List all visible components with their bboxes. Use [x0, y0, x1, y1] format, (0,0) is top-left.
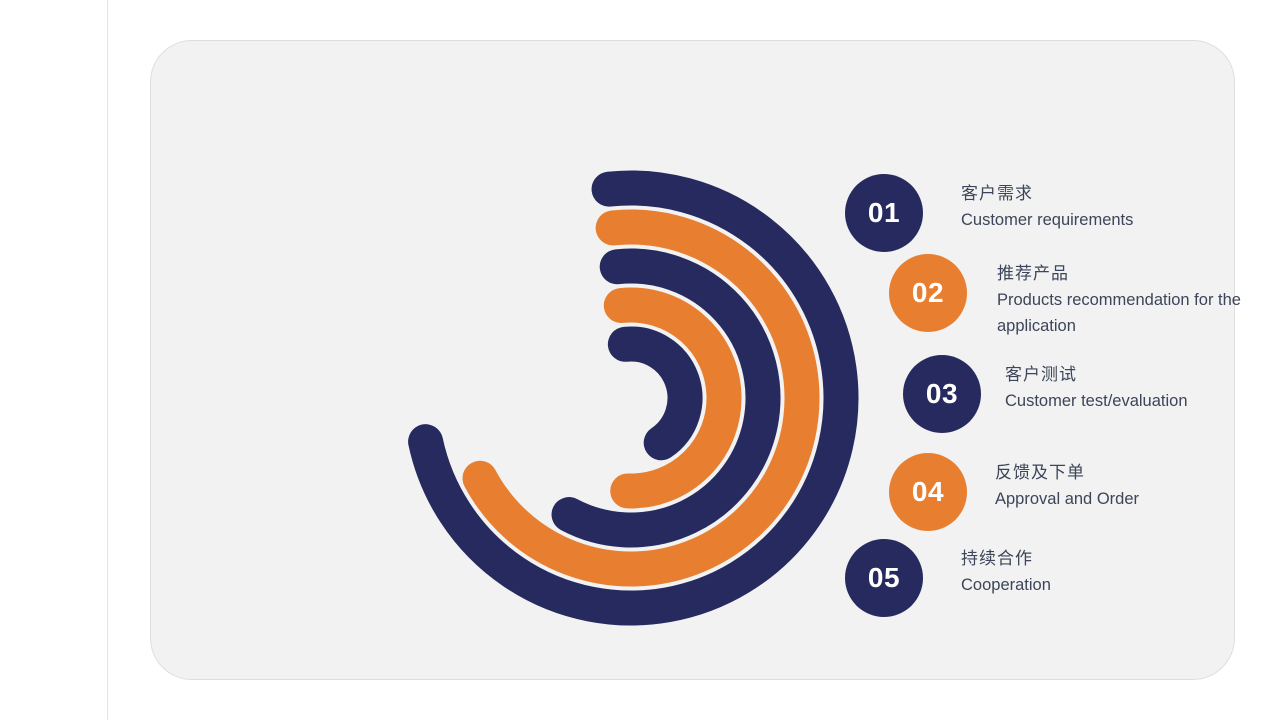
step-label-en-03: Customer test/evaluation — [1005, 388, 1188, 415]
spiral-graphic — [391, 151, 881, 651]
step-labels-04: 反馈及下单 Approval and Order — [995, 453, 1139, 512]
left-margin-rule — [107, 0, 108, 720]
step-label-cn-03: 客户测试 — [1005, 362, 1188, 388]
step-number-05: 05 — [868, 562, 900, 594]
step-item-03[interactable]: 03 客户测试 Customer test/evaluation — [903, 355, 1188, 433]
step-labels-03: 客户测试 Customer test/evaluation — [1005, 355, 1188, 414]
step-label-en-04: Approval and Order — [995, 486, 1139, 513]
step-badge-04[interactable]: 04 — [889, 453, 967, 531]
step-list: 01 客户需求 Customer requirements 02 推荐产品 Pr… — [841, 161, 1280, 631]
step-labels-01: 客户需求 Customer requirements — [961, 174, 1133, 233]
step-label-cn-04: 反馈及下单 — [995, 460, 1139, 486]
step-label-cn-02: 推荐产品 — [997, 261, 1267, 287]
step-item-01[interactable]: 01 客户需求 Customer requirements — [845, 174, 1133, 252]
step-badge-03[interactable]: 03 — [903, 355, 981, 433]
step-number-03: 03 — [926, 378, 958, 410]
step-item-05[interactable]: 05 持续合作 Cooperation — [845, 539, 1051, 617]
step-label-en-01: Customer requirements — [961, 207, 1133, 234]
step-number-02: 02 — [912, 277, 944, 309]
step-item-04[interactable]: 04 反馈及下单 Approval and Order — [889, 453, 1139, 531]
content-card: 01 客户需求 Customer requirements 02 推荐产品 Pr… — [150, 40, 1235, 680]
step-item-02[interactable]: 02 推荐产品 Products recommendation for the … — [889, 254, 1267, 340]
step-labels-02: 推荐产品 Products recommendation for the app… — [997, 254, 1267, 340]
step-label-cn-05: 持续合作 — [961, 546, 1051, 572]
step-labels-05: 持续合作 Cooperation — [961, 539, 1051, 598]
step-number-01: 01 — [868, 197, 900, 229]
step-label-en-02: Products recommendation for the applicat… — [997, 287, 1267, 340]
step-badge-05[interactable]: 05 — [845, 539, 923, 617]
spiral-arc-5 — [625, 344, 685, 443]
step-badge-02[interactable]: 02 — [889, 254, 967, 332]
step-badge-01[interactable]: 01 — [845, 174, 923, 252]
step-number-04: 04 — [912, 476, 944, 508]
spiral-arcs-svg — [391, 151, 881, 651]
step-label-cn-01: 客户需求 — [961, 181, 1133, 207]
step-label-en-05: Cooperation — [961, 572, 1051, 599]
